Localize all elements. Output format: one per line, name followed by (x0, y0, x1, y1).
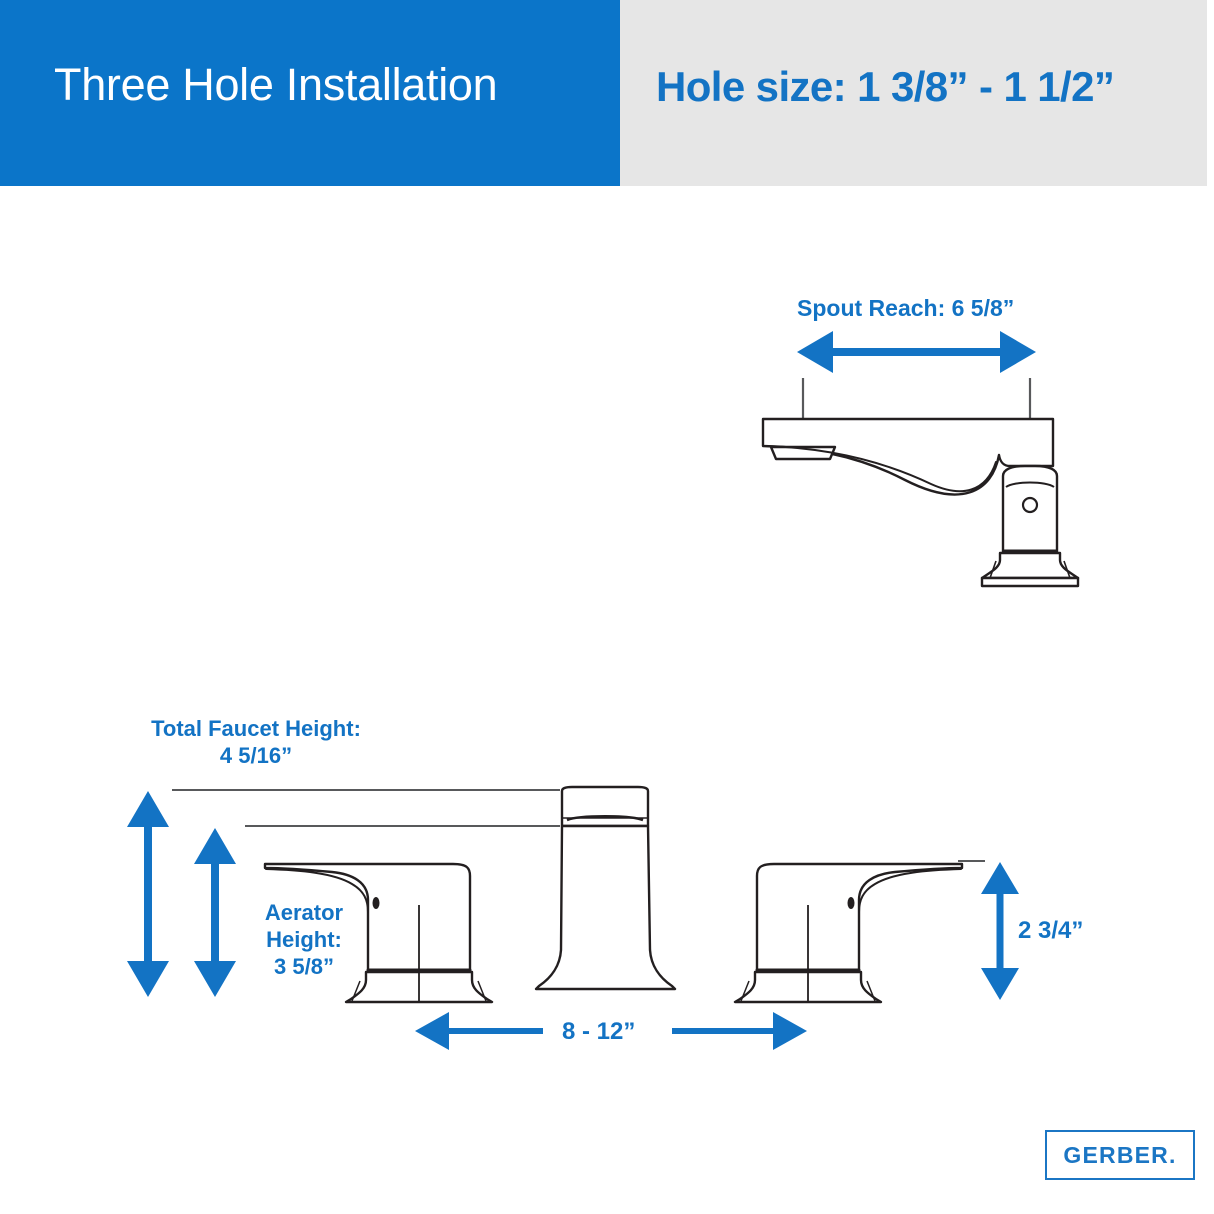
left-handle (265, 864, 470, 972)
gerber-logo: GERBER. (1045, 1130, 1195, 1180)
right-handle-pivot-icon (848, 897, 855, 909)
handle-spread-arrowhead-right (773, 1012, 807, 1050)
total-height-arrowhead-bottom (127, 961, 169, 997)
spout-reach-arrowhead-right (1000, 331, 1036, 373)
handle-height-arrowhead-top (981, 862, 1019, 894)
spout-side-view-group (763, 331, 1078, 586)
total-height-arrowhead-top (127, 791, 169, 827)
spout-column (1003, 466, 1057, 553)
spout-set-screw-icon (1023, 498, 1037, 512)
spout-escutcheon-base (982, 553, 1078, 586)
aerator-height-arrow (194, 828, 236, 997)
aerator-height-arrowhead-top (194, 828, 236, 864)
total-faucet-height-arrow (127, 791, 169, 997)
handle-height-arrowhead-bottom (981, 968, 1019, 1000)
spout-reach-arrowhead-left (797, 331, 833, 373)
right-handle (757, 864, 962, 972)
center-spout-front (536, 787, 675, 989)
handle-spread-arrowhead-left (415, 1012, 449, 1050)
gerber-logo-text: GERBER. (1063, 1144, 1176, 1167)
handle-spread-arrow (415, 1012, 807, 1050)
handle-height-arrow (981, 862, 1019, 1000)
faucet-front-view-group (127, 787, 1019, 1050)
left-handle-pivot-icon (373, 897, 380, 909)
spout-reach-arrow (797, 331, 1036, 373)
aerator-height-arrowhead-bottom (194, 961, 236, 997)
diagram-artwork (0, 0, 1214, 1214)
